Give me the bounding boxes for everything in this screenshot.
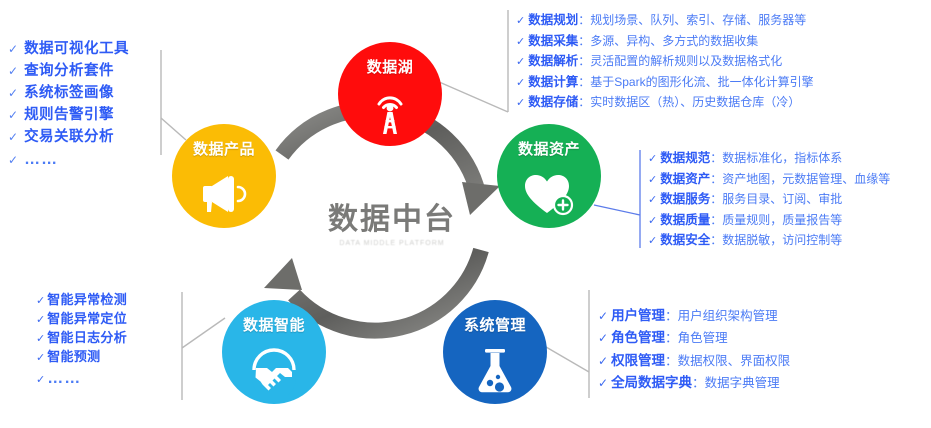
list-item-term: 数据可视化工具 — [24, 38, 129, 60]
check-icon: ✓ — [36, 372, 45, 388]
node-system-management-label: 系统管理 — [464, 314, 526, 335]
diagram-canvas: 数据湖 数据产品 — [0, 0, 931, 428]
list-item-term: 系统标签画像 — [24, 82, 114, 104]
list-data-product: ✓ 数据可视化工具 ✓ 查询分析套件 ✓ 系统标签画像 ✓ 规则告警引擎 ✓ 交… — [8, 38, 129, 172]
list-item-term: 交易关联分析 — [24, 126, 114, 148]
list-item: ✓ 智能异常定位 — [36, 310, 127, 329]
list-item: ✓ 规则告警引擎 — [8, 104, 129, 126]
node-data-intelligence-label: 数据智能 — [243, 314, 305, 335]
list-item: ✓ 智能日志分析 — [36, 329, 127, 348]
node-data-asset[interactable]: 数据资产 — [497, 124, 601, 228]
check-icon: ✓ — [648, 233, 657, 251]
list-data-intelligence: ✓ 智能异常检测 ✓ 智能异常定位 ✓ 智能日志分析 ✓ 智能预测 ✓ …… — [36, 291, 127, 390]
check-icon: ✓ — [36, 293, 45, 309]
list-item: ✓ 数据解析 ：灵活配置的解析规则以及数据格式化 — [516, 51, 814, 72]
list-item: ✓ 智能预测 — [36, 348, 127, 367]
list-item-desc: ：数据脱敏，访问控制等 — [710, 231, 842, 250]
list-item-term: 数据安全 — [660, 230, 710, 250]
list-item: ✓ 数据服务 ：服务目录、订阅、审批 — [648, 189, 890, 210]
check-icon: ✓ — [516, 54, 525, 72]
list-item-term: 角色管理 — [611, 327, 665, 349]
check-icon: ✓ — [8, 84, 18, 102]
list-data-lake: ✓ 数据规划 ：规划场景、队列、索引、存储、服务器等 ✓ 数据采集 ：多源、异构… — [516, 10, 814, 113]
node-data-asset-label: 数据资产 — [518, 138, 580, 159]
list-item-term: 智能日志分析 — [47, 329, 127, 348]
list-item-desc: ：基于Spark的图形化流、批一体化计算引擎 — [578, 73, 813, 92]
center-hub: 数据中台 DATA MIDDLE PLATFORM — [302, 205, 482, 247]
list-item-term: 数据规划 — [528, 10, 578, 30]
check-icon: ✓ — [516, 95, 525, 113]
list-item-desc: ：角色管理 — [665, 328, 728, 349]
check-icon: ✓ — [648, 151, 657, 169]
check-icon: ✓ — [516, 13, 525, 31]
flask-icon — [473, 335, 517, 404]
list-item-ellipsis: …… — [47, 367, 81, 390]
handshake-icon — [249, 335, 299, 404]
check-icon: ✓ — [36, 331, 45, 347]
list-item-term: 权限管理 — [611, 350, 665, 372]
list-item: ✓ 数据安全 ：数据脱敏，访问控制等 — [648, 230, 890, 251]
list-item-term: 数据服务 — [660, 189, 710, 209]
list-item-ellipsis: …… — [24, 148, 58, 172]
check-icon: ✓ — [36, 350, 45, 366]
list-item: ✓ …… — [8, 148, 129, 172]
list-item-term: 数据解析 — [528, 51, 578, 71]
list-item: ✓ 查询分析套件 — [8, 60, 129, 82]
check-icon: ✓ — [8, 128, 18, 146]
list-item: ✓ 数据存储 ：实时数据区（热）、历史数据仓库（冷） — [516, 92, 814, 113]
list-item-desc: ：数据字典管理 — [692, 373, 780, 394]
list-item-desc: ：服务目录、订阅、审批 — [710, 190, 842, 209]
check-icon: ✓ — [8, 40, 18, 58]
list-item: ✓ 数据资产 ：资产地图，元数据管理、血缘等 — [648, 169, 890, 190]
list-item: ✓ 系统标签画像 — [8, 82, 129, 104]
check-icon: ✓ — [648, 172, 657, 190]
check-icon: ✓ — [598, 374, 608, 394]
check-icon: ✓ — [516, 75, 525, 93]
connector-data-product-leg — [161, 118, 186, 140]
list-item-desc: ：规划场景、队列、索引、存储、服务器等 — [578, 11, 806, 30]
list-item-term: 智能预测 — [47, 348, 100, 367]
list-item-term: 全局数据字典 — [611, 372, 692, 394]
connector-data-intel-leg — [182, 318, 225, 348]
list-item: ✓ 用户管理 ：用户组织架构管理 — [598, 305, 790, 327]
list-item-term: 数据存储 — [528, 92, 578, 112]
check-icon: ✓ — [8, 151, 18, 169]
list-item-term: 数据质量 — [660, 210, 710, 230]
list-item-term: 数据资产 — [660, 169, 710, 189]
list-item-term: 智能异常定位 — [47, 310, 127, 329]
list-item-desc: ：数据标准化，指标体系 — [710, 149, 842, 168]
broadcast-tower-icon — [367, 77, 413, 146]
list-item: ✓ 全局数据字典 ：数据字典管理 — [598, 372, 790, 394]
list-item: ✓ 数据计算 ：基于Spark的图形化流、批一体化计算引擎 — [516, 72, 814, 93]
list-item-term: 智能异常检测 — [47, 291, 127, 310]
center-subtitle: DATA MIDDLE PLATFORM — [302, 240, 482, 247]
list-item: ✓ 交易关联分析 — [8, 126, 129, 148]
list-item-term: 数据规范 — [660, 148, 710, 168]
heart-plus-icon — [522, 159, 576, 228]
list-item-term: 数据计算 — [528, 72, 578, 92]
check-icon: ✓ — [648, 213, 657, 231]
list-item-desc: ：实时数据区（热）、历史数据仓库（冷） — [578, 93, 800, 112]
check-icon: ✓ — [598, 307, 608, 327]
connector-data-asset-leg — [594, 205, 640, 215]
check-icon: ✓ — [516, 34, 525, 52]
node-data-lake[interactable]: 数据湖 — [338, 42, 442, 146]
list-item-desc: ：多源、异构、多方式的数据收集 — [578, 32, 758, 51]
list-item-term: 数据采集 — [528, 31, 578, 51]
check-icon: ✓ — [36, 312, 45, 328]
list-item-desc: ：数据权限、界面权限 — [665, 351, 790, 372]
node-data-product[interactable]: 数据产品 — [172, 124, 276, 228]
list-data-asset: ✓ 数据规范 ：数据标准化，指标体系 ✓ 数据资产 ：资产地图，元数据管理、血缘… — [648, 148, 890, 251]
list-item: ✓ 数据规范 ：数据标准化，指标体系 — [648, 148, 890, 169]
list-item-term: 查询分析套件 — [24, 60, 114, 82]
list-item: ✓ …… — [36, 367, 127, 390]
node-system-management[interactable]: 系统管理 — [443, 300, 547, 404]
node-data-lake-label: 数据湖 — [367, 56, 414, 77]
node-data-product-label: 数据产品 — [193, 138, 255, 159]
list-item: ✓ 数据规划 ：规划场景、队列、索引、存储、服务器等 — [516, 10, 814, 31]
list-item-desc: ：用户组织架构管理 — [665, 306, 778, 327]
list-item-term: 规则告警引擎 — [24, 104, 114, 126]
list-item: ✓ 角色管理 ：角色管理 — [598, 327, 790, 349]
list-item: ✓ 数据可视化工具 — [8, 38, 129, 60]
list-system-management: ✓ 用户管理 ：用户组织架构管理 ✓ 角色管理 ：角色管理 ✓ 权限管理 ：数据… — [598, 305, 790, 395]
check-icon: ✓ — [648, 192, 657, 210]
list-item: ✓ 数据质量 ：质量规则，质量报告等 — [648, 210, 890, 231]
list-item-term: 用户管理 — [611, 305, 665, 327]
list-item-desc: ：质量规则，质量报告等 — [710, 211, 842, 230]
list-item: ✓ 权限管理 ：数据权限、界面权限 — [598, 350, 790, 372]
check-icon: ✓ — [8, 106, 18, 124]
list-item-desc: ：资产地图，元数据管理、血缘等 — [710, 170, 890, 189]
check-icon: ✓ — [598, 329, 608, 349]
center-title: 数据中台 — [302, 205, 482, 235]
megaphone-icon — [198, 159, 250, 228]
list-item: ✓ 智能异常检测 — [36, 291, 127, 310]
check-icon: ✓ — [598, 352, 608, 372]
node-data-intelligence[interactable]: 数据智能 — [222, 300, 326, 404]
check-icon: ✓ — [8, 62, 18, 80]
list-item: ✓ 数据采集 ：多源、异构、多方式的数据收集 — [516, 31, 814, 52]
list-item-desc: ：灵活配置的解析规则以及数据格式化 — [578, 52, 782, 71]
